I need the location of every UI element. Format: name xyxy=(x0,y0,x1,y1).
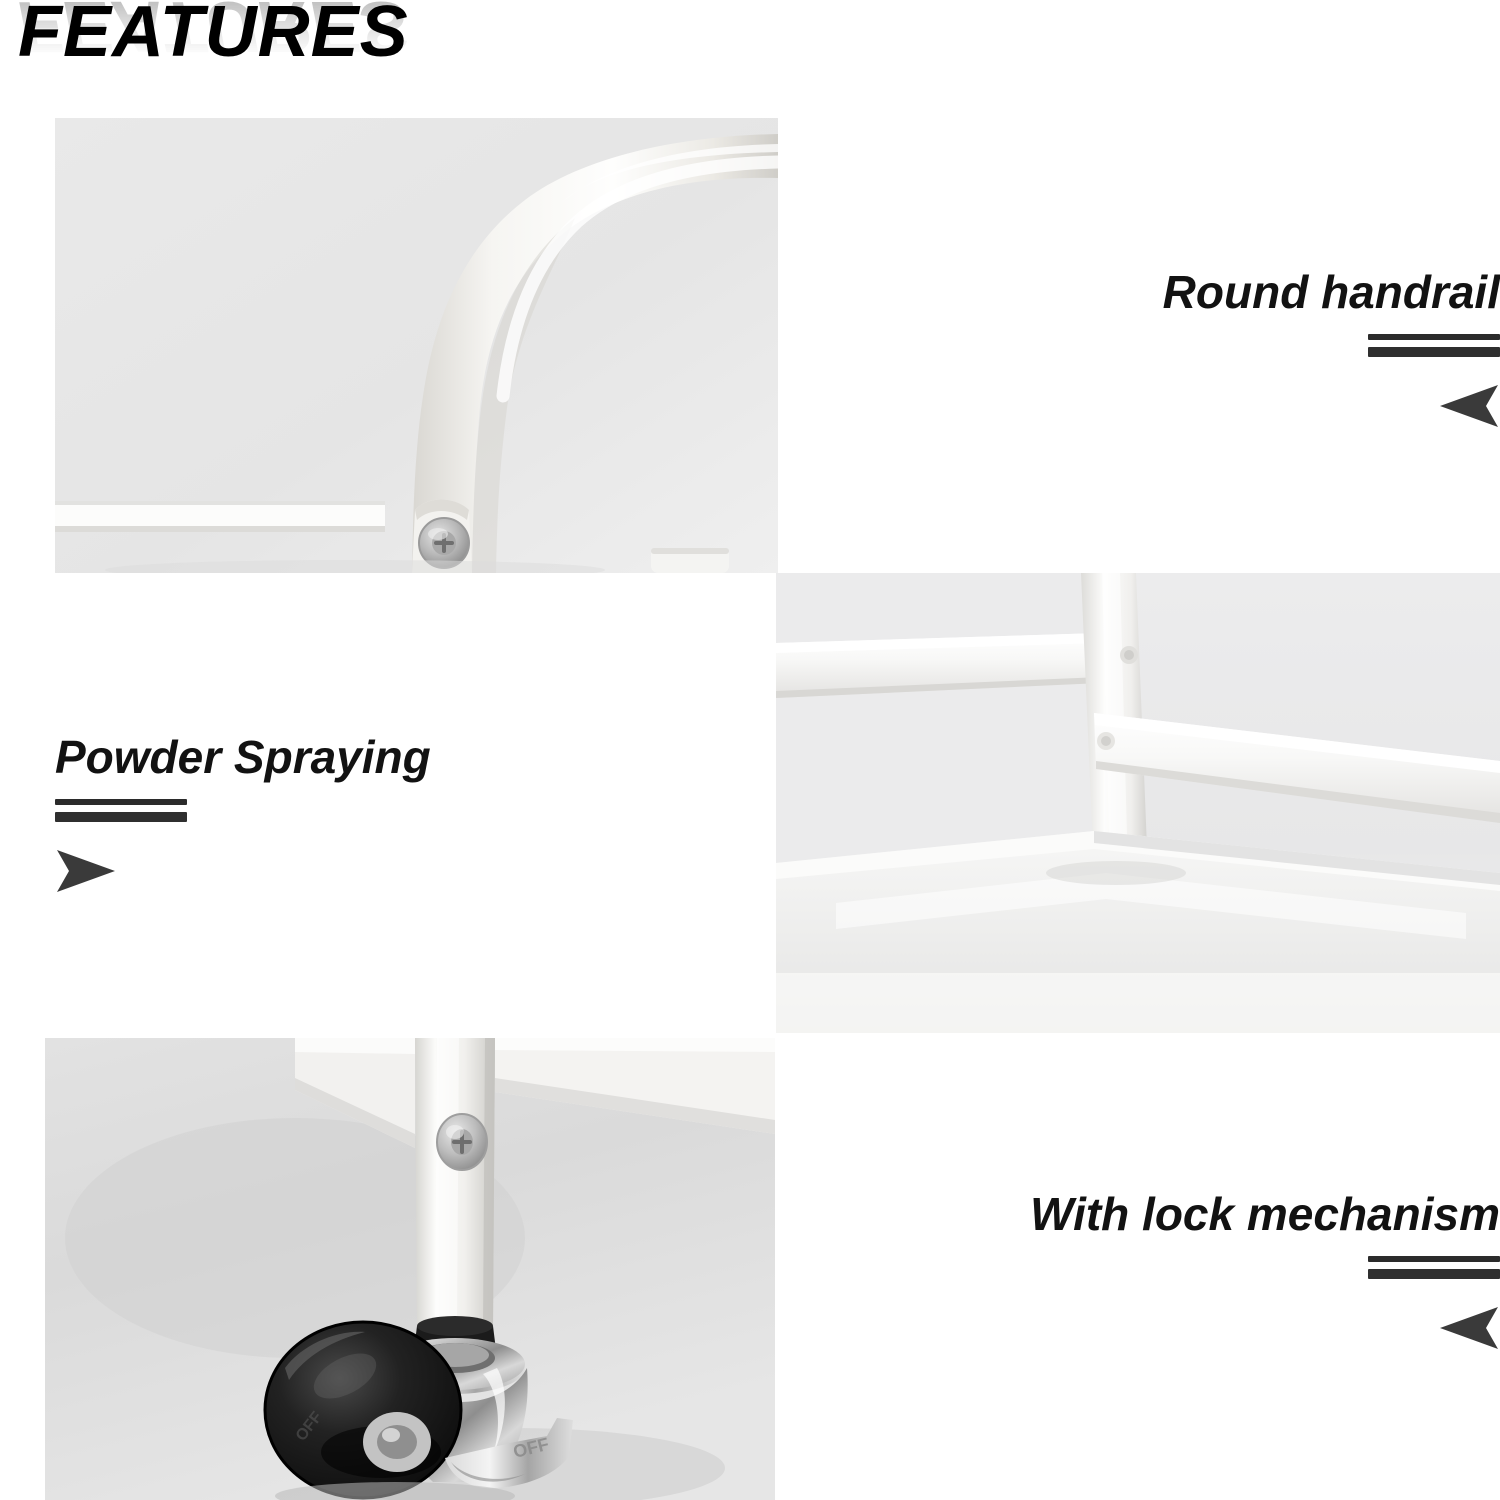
shelf-rail-closeup-photo xyxy=(776,573,1500,1033)
page-title-group: FEATURES FEATURES xyxy=(18,0,638,116)
feature-label-powder-spraying: Powder Spraying xyxy=(55,733,515,781)
rule-bar-thin xyxy=(1368,1256,1500,1262)
arrow-right-icon xyxy=(55,848,117,894)
feature-label-with-lock-mechanism: With lock mechanism xyxy=(960,1190,1500,1238)
rule-bar-thin xyxy=(55,799,187,805)
shelf-illustration xyxy=(776,573,1500,1033)
handrail-closeup-photo xyxy=(55,118,778,573)
caster-wheel-closeup-photo: OFF OFF xyxy=(45,1038,775,1500)
arrow-left-icon xyxy=(1438,1305,1500,1351)
feature-rule xyxy=(1368,1256,1500,1279)
feature-label-round-handrail: Round handrail xyxy=(1100,268,1500,316)
feature-rule xyxy=(1368,334,1500,357)
arrow-left-icon xyxy=(1438,383,1500,429)
page-title-reflection: FEATURES xyxy=(18,0,409,62)
feature-round-handrail: Round handrail xyxy=(1100,268,1500,429)
caster-illustration: OFF OFF xyxy=(45,1038,775,1500)
feature-rule xyxy=(55,799,187,822)
features-infographic: FEATURES FEATURES xyxy=(0,0,1500,1500)
feature-powder-spraying: Powder Spraying xyxy=(55,733,515,894)
feature-with-lock-mechanism: With lock mechanism xyxy=(960,1190,1500,1351)
handrail-illustration xyxy=(55,118,778,573)
rule-bar-thin xyxy=(1368,334,1500,340)
rule-bar-thick xyxy=(1368,1269,1500,1279)
rule-bar-thick xyxy=(1368,347,1500,357)
rule-bar-thick xyxy=(55,812,187,822)
